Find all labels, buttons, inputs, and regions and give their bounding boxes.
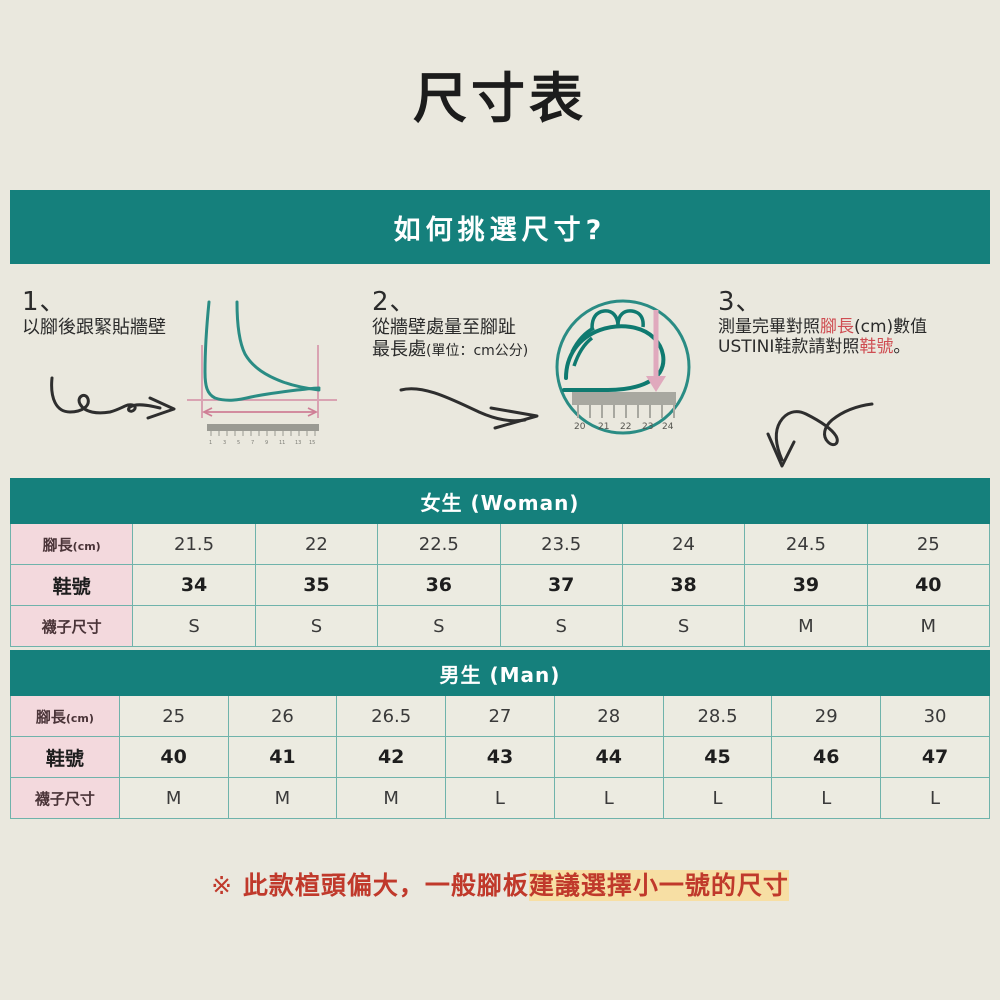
page-title: 尺寸表 — [0, 72, 1000, 126]
row-label-foot-length-unit: (cm) — [66, 712, 94, 725]
row-label-shoe-size: 鞋號 — [11, 737, 120, 778]
toes-on-ruler-circle-diagram-icon: 202122 2324 — [548, 296, 698, 438]
cell-foot-length: 25 — [119, 696, 228, 737]
note-highlighted: 建議選擇小一號的尺寸 — [529, 870, 789, 901]
step-3-line2-b: 。 — [893, 337, 910, 357]
cell-foot-length: 28.5 — [663, 696, 772, 737]
cell-foot-length: 26.5 — [337, 696, 446, 737]
table-row: 襪子尺寸 M M M L L L L L — [11, 778, 990, 819]
side-foot-measure-diagram-icon: 135 7911 1315 — [185, 300, 340, 450]
svg-text:13: 13 — [295, 440, 301, 446]
svg-text:22: 22 — [620, 422, 631, 432]
hand-drawn-arrow-down-left-icon — [760, 398, 880, 470]
cell-sock-size: S — [133, 606, 255, 647]
cell-foot-length: 22.5 — [378, 524, 500, 565]
svg-text:23: 23 — [642, 422, 653, 432]
cell-shoe-size: 39 — [745, 565, 867, 606]
cell-sock-size: L — [772, 778, 881, 819]
cell-foot-length: 30 — [881, 696, 990, 737]
cell-foot-length: 26 — [228, 696, 337, 737]
step-3-line2-a: USTINI鞋款請對照 — [718, 337, 859, 357]
cell-shoe-size: 35 — [255, 565, 377, 606]
woman-size-table: 女生 (Woman) 腳長(cm) 21.5 22 22.5 23.5 24 2… — [10, 478, 990, 647]
cell-shoe-size: 47 — [881, 737, 990, 778]
step-3-line2-highlight: 鞋號 — [859, 337, 893, 357]
cell-shoe-size: 44 — [554, 737, 663, 778]
note-plain: 此款楦頭偏大，一般腳板 — [243, 871, 529, 900]
table-row: 襪子尺寸 S S S S S M M — [11, 606, 990, 647]
step-2-text-line2: 最長處(單位：cm公分) — [372, 339, 562, 361]
cell-foot-length: 27 — [446, 696, 555, 737]
step-3-line1-b: (cm)數值 — [854, 317, 927, 337]
cell-shoe-size: 37 — [500, 565, 622, 606]
size-chart-page: 尺寸表 如何挑選尺寸? 1、 以腳後跟緊貼牆壁 2、 從牆壁處量至腳趾 最長處(… — [0, 0, 1000, 1000]
cell-sock-size: M — [119, 778, 228, 819]
cell-foot-length: 24 — [622, 524, 744, 565]
step-1-text: 以腳後跟緊貼牆壁 — [22, 317, 192, 339]
step-2: 2、 從牆壁處量至腳趾 最長處(單位：cm公分) — [372, 288, 562, 361]
banner-text: 如何挑選尺寸? — [394, 208, 607, 247]
man-table-caption: 男生 (Man) — [11, 651, 990, 696]
how-to-choose-banner: 如何挑選尺寸? — [10, 190, 990, 264]
step-2-line2-unit: (單位：cm公分) — [426, 343, 528, 359]
cell-shoe-size: 45 — [663, 737, 772, 778]
cell-foot-length: 23.5 — [500, 524, 622, 565]
row-label-foot-length: 腳長(cm) — [11, 524, 133, 565]
cell-sock-size: S — [378, 606, 500, 647]
note-mark: ※ — [211, 871, 233, 900]
cell-shoe-size: 38 — [622, 565, 744, 606]
cell-shoe-size: 40 — [119, 737, 228, 778]
svg-text:1: 1 — [209, 440, 212, 446]
svg-text:7: 7 — [251, 440, 254, 446]
step-3-line1-highlight: 腳長 — [820, 317, 854, 337]
row-label-sock-size: 襪子尺寸 — [11, 606, 133, 647]
cell-sock-size: S — [500, 606, 622, 647]
cell-sock-size: L — [881, 778, 990, 819]
cell-shoe-size: 34 — [133, 565, 255, 606]
step-3-text-line1: 測量完畢對照腳長(cm)數值 — [718, 317, 998, 338]
row-label-foot-length-main: 腳長 — [36, 708, 66, 726]
step-3-text-line2: USTINI鞋款請對照鞋號。 — [718, 337, 998, 358]
cell-foot-length: 21.5 — [133, 524, 255, 565]
cell-sock-size: L — [663, 778, 772, 819]
hand-drawn-arrow-right-2-icon — [395, 382, 565, 432]
table-row: 腳長(cm) 21.5 22 22.5 23.5 24 24.5 25 — [11, 524, 990, 565]
step-1: 1、 以腳後跟緊貼牆壁 — [22, 288, 192, 339]
man-size-table: 男生 (Man) 腳長(cm) 25 26 26.5 27 28 28.5 29… — [10, 650, 990, 819]
row-label-foot-length-unit: (cm) — [73, 540, 101, 553]
step-2-text-line1: 從牆壁處量至腳趾 — [372, 317, 562, 339]
hand-drawn-arrow-right-icon — [40, 372, 190, 424]
row-label-sock-size: 襪子尺寸 — [11, 778, 120, 819]
table-row: 鞋號 40 41 42 43 44 45 46 47 — [11, 737, 990, 778]
step-2-number: 2、 — [372, 288, 562, 317]
cell-sock-size: M — [867, 606, 989, 647]
cell-shoe-size: 43 — [446, 737, 555, 778]
cell-sock-size: L — [446, 778, 555, 819]
cell-foot-length: 25 — [867, 524, 989, 565]
table-row: 腳長(cm) 25 26 26.5 27 28 28.5 29 30 — [11, 696, 990, 737]
cell-shoe-size: 36 — [378, 565, 500, 606]
cell-foot-length: 22 — [255, 524, 377, 565]
row-label-foot-length: 腳長(cm) — [11, 696, 120, 737]
svg-text:20: 20 — [574, 422, 586, 432]
svg-text:21: 21 — [598, 422, 609, 432]
svg-text:15: 15 — [309, 440, 315, 446]
step-3-line1-a: 測量完畢對照 — [718, 317, 820, 337]
row-label-shoe-size: 鞋號 — [11, 565, 133, 606]
cell-sock-size: M — [745, 606, 867, 647]
svg-text:11: 11 — [279, 440, 285, 446]
footer-note: ※ 此款楦頭偏大，一般腳板建議選擇小一號的尺寸 — [0, 866, 1000, 902]
table-row: 鞋號 34 35 36 37 38 39 40 — [11, 565, 990, 606]
step-3: 3、 測量完畢對照腳長(cm)數值 USTINI鞋款請對照鞋號。 — [718, 288, 998, 358]
svg-text:9: 9 — [265, 440, 268, 446]
cell-sock-size: S — [255, 606, 377, 647]
step-1-number: 1、 — [22, 288, 192, 317]
svg-text:3: 3 — [223, 440, 226, 446]
row-label-foot-length-main: 腳長 — [43, 536, 73, 554]
cell-shoe-size: 42 — [337, 737, 446, 778]
svg-text:5: 5 — [237, 440, 240, 446]
cell-shoe-size: 40 — [867, 565, 989, 606]
cell-sock-size: M — [337, 778, 446, 819]
cell-sock-size: M — [228, 778, 337, 819]
cell-shoe-size: 46 — [772, 737, 881, 778]
cell-sock-size: L — [554, 778, 663, 819]
cell-foot-length: 28 — [554, 696, 663, 737]
cell-foot-length: 24.5 — [745, 524, 867, 565]
woman-table-caption: 女生 (Woman) — [11, 479, 990, 524]
cell-shoe-size: 41 — [228, 737, 337, 778]
step-3-number: 3、 — [718, 288, 998, 317]
cell-foot-length: 29 — [772, 696, 881, 737]
svg-text:24: 24 — [662, 422, 674, 432]
step-2-line2-main: 最長處 — [372, 339, 426, 360]
cell-sock-size: S — [622, 606, 744, 647]
